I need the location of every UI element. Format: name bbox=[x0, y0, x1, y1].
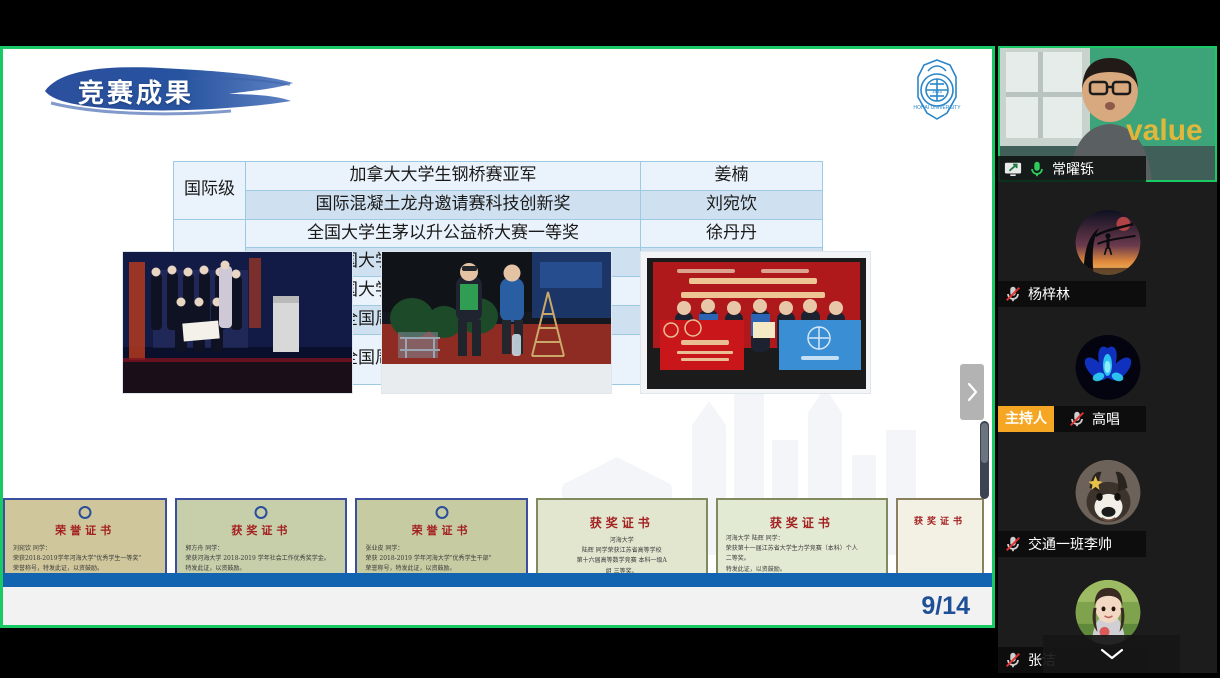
scrollbar-thumb[interactable] bbox=[981, 423, 988, 463]
table-cell-winners: 刘宛饮 bbox=[641, 190, 823, 219]
certificate-body: 郭方舟 同学： 荣获河海大学 2018-2019 学年社会工作优秀奖学金。 特发… bbox=[185, 544, 337, 575]
shared-screen-region: 竞赛成果 HOHAI UNIVERSITY 1915 bbox=[0, 46, 995, 628]
certificate-seal-icon bbox=[255, 506, 268, 519]
microphone-muted-icon[interactable] bbox=[1068, 410, 1086, 428]
screen-share-icon bbox=[1004, 160, 1022, 178]
slide-page-indicator: 9/14 bbox=[921, 592, 970, 621]
certificate-seal-icon bbox=[79, 506, 92, 519]
photo-international-steel-bridge-award-ceremony bbox=[122, 251, 353, 394]
avatar bbox=[1075, 459, 1140, 524]
table-cell-award: 加拿大大学生钢桥赛亚军 bbox=[246, 162, 641, 191]
table-cell-award: 国际混凝土龙舟邀请赛科技创新奖 bbox=[246, 190, 641, 219]
slide-footer: 9/14 bbox=[3, 587, 992, 625]
participant-tile-4[interactable]: 张洁 bbox=[998, 557, 1217, 673]
table-row: 国际混凝土龙舟邀请赛科技创新奖 刘宛饮 bbox=[174, 190, 823, 219]
table-cell-category: 国际级 bbox=[174, 162, 246, 220]
participant-tile-3[interactable]: 交通一班李帅 bbox=[998, 432, 1217, 557]
next-slide-button[interactable] bbox=[960, 364, 984, 420]
avatar bbox=[1075, 334, 1140, 399]
slide-photo-row bbox=[122, 251, 871, 394]
scroll-down-button[interactable] bbox=[1043, 635, 1180, 673]
participant-namebar: 杨梓林 bbox=[998, 281, 1146, 307]
slide-title: 竞赛成果 bbox=[78, 73, 194, 110]
participant-name: 杨梓林 bbox=[1028, 284, 1070, 304]
table-cell-winners: 徐丹丹 bbox=[641, 219, 823, 248]
certificate-seal-icon bbox=[435, 506, 448, 519]
photo-structural-design-competition-model bbox=[381, 251, 612, 394]
svg-text:value: value bbox=[1126, 114, 1203, 147]
certificate-body: 河海大学 陆辉 同学： 荣获第十一届江苏省大学生力学竞赛（本科）个人 二等奖。 … bbox=[726, 534, 878, 575]
certificate-title: 获奖证书 bbox=[898, 514, 982, 527]
presentation-slide: 竞赛成果 HOHAI UNIVERSITY 1915 bbox=[3, 49, 992, 625]
svg-text:HOHAI UNIVERSITY: HOHAI UNIVERSITY bbox=[913, 105, 961, 111]
certificate-title: 获奖证书 bbox=[538, 514, 706, 531]
certificate-title: 获奖证书 bbox=[718, 514, 886, 531]
participant-name: 常曜铄 bbox=[1052, 159, 1094, 179]
chevron-down-icon bbox=[1099, 647, 1125, 661]
participant-name: 高唱 bbox=[1092, 409, 1120, 429]
certificate-body: 河海大学 陆辉 同学荣获江苏省高等学校 第十六届高等数学竞赛 本科一级A 组 三… bbox=[546, 536, 698, 577]
svg-text:1915: 1915 bbox=[932, 89, 943, 94]
table-cell-award: 全国大学生茅以升公益桥大赛一等奖 bbox=[246, 219, 641, 248]
host-badge: 主持人 bbox=[998, 406, 1054, 432]
table-row: 国际级 加拿大大学生钢桥赛亚军 姜楠 bbox=[174, 162, 823, 191]
participant-tile-2[interactable]: 主持人 高唱 bbox=[998, 307, 1217, 432]
participant-namebar: 交通一班李帅 bbox=[998, 531, 1146, 557]
avatar bbox=[1075, 209, 1140, 274]
certificate-title: 荣誉证书 bbox=[5, 522, 165, 538]
participant-tile-0[interactable]: value 常曜铄 bbox=[998, 46, 1217, 182]
table-cell-winners: 姜楠 bbox=[641, 162, 823, 191]
microphone-muted-icon[interactable] bbox=[1004, 651, 1022, 669]
photo-mao-yisheng-bridge-contest-banner bbox=[640, 251, 871, 394]
participant-name: 交通一班李帅 bbox=[1028, 534, 1112, 554]
table-row: 国家级 全国大学生茅以升公益桥大赛一等奖 徐丹丹 bbox=[174, 219, 823, 248]
certificate-body: 刘宛饮 同学： 荣获2018-2019学年河海大学"优秀学生一等奖" 荣誉称号，… bbox=[13, 544, 157, 575]
slide-accent-bar bbox=[3, 573, 992, 587]
microphone-muted-icon[interactable] bbox=[1004, 535, 1022, 553]
shared-screen-scrollbar[interactable] bbox=[980, 421, 989, 499]
participant-sidebar: value 常曜铄 bbox=[995, 0, 1220, 678]
chevron-right-icon bbox=[966, 382, 979, 402]
microphone-on-icon[interactable] bbox=[1028, 160, 1046, 178]
participant-namebar: 常曜铄 bbox=[998, 156, 1146, 182]
certificate-title: 获奖证书 bbox=[177, 522, 345, 538]
certificate-title: 荣誉证书 bbox=[357, 522, 525, 538]
certificate-body: 张业皮 同学： 荣获 2018-2019 学年河海大学"优秀学生干部" 荣誉称号… bbox=[365, 544, 517, 575]
microphone-muted-icon[interactable] bbox=[1004, 285, 1022, 303]
meeting-screen: 竞赛成果 HOHAI UNIVERSITY 1915 bbox=[0, 0, 1220, 678]
hohai-university-logo-icon: HOHAI UNIVERSITY 1915 bbox=[904, 57, 970, 123]
participant-namebar: 主持人 高唱 bbox=[998, 406, 1146, 432]
participant-tile-1[interactable]: 杨梓林 bbox=[998, 182, 1217, 307]
